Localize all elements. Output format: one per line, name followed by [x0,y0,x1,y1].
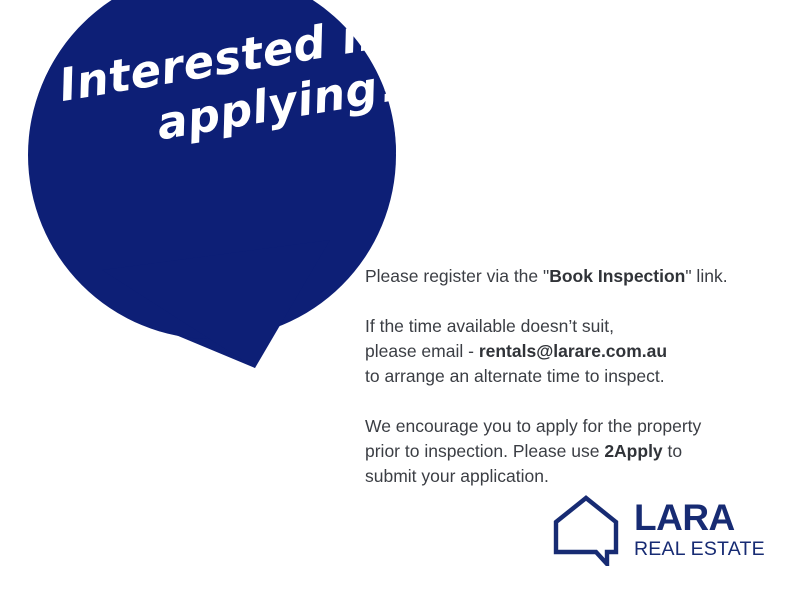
text-run: to arrange an alternate time to inspect. [365,366,665,386]
text-run: Please register via the " [365,266,549,286]
text-run: " link. [685,266,727,286]
text-run-bold: Book Inspection [549,266,685,286]
poster-canvas: Interested in applying? Please register … [0,0,800,600]
headline-interested-in-applying: Interested in applying? [42,8,404,164]
paragraph-apply: We encourage you to apply for the proper… [365,414,777,489]
house-speech-bubble-outline-icon [552,494,622,566]
text-run-bold-2apply: 2Apply [604,441,662,461]
text-run: If the time available doesn’t suit, [365,316,614,336]
text-run: prior to inspection. Please use [365,441,604,461]
text-run: submit your application. [365,466,549,486]
instructions-body: Please register via the "Book Inspection… [365,264,777,489]
paragraph-email: If the time available doesn’t suit, plea… [365,314,777,389]
text-run: We encourage you to apply for the proper… [365,416,701,436]
text-run: please email - [365,341,479,361]
logo-name-lara: LARA [634,500,765,536]
paragraph-register: Please register via the "Book Inspection… [365,264,777,289]
logo-tagline-real-estate: REAL ESTATE [634,538,765,560]
text-run: to [663,441,682,461]
logo-wordmark: LARA REAL ESTATE [634,500,765,560]
lara-real-estate-logo: LARA REAL ESTATE [552,492,767,568]
email-address: rentals@larare.com.au [479,341,667,361]
